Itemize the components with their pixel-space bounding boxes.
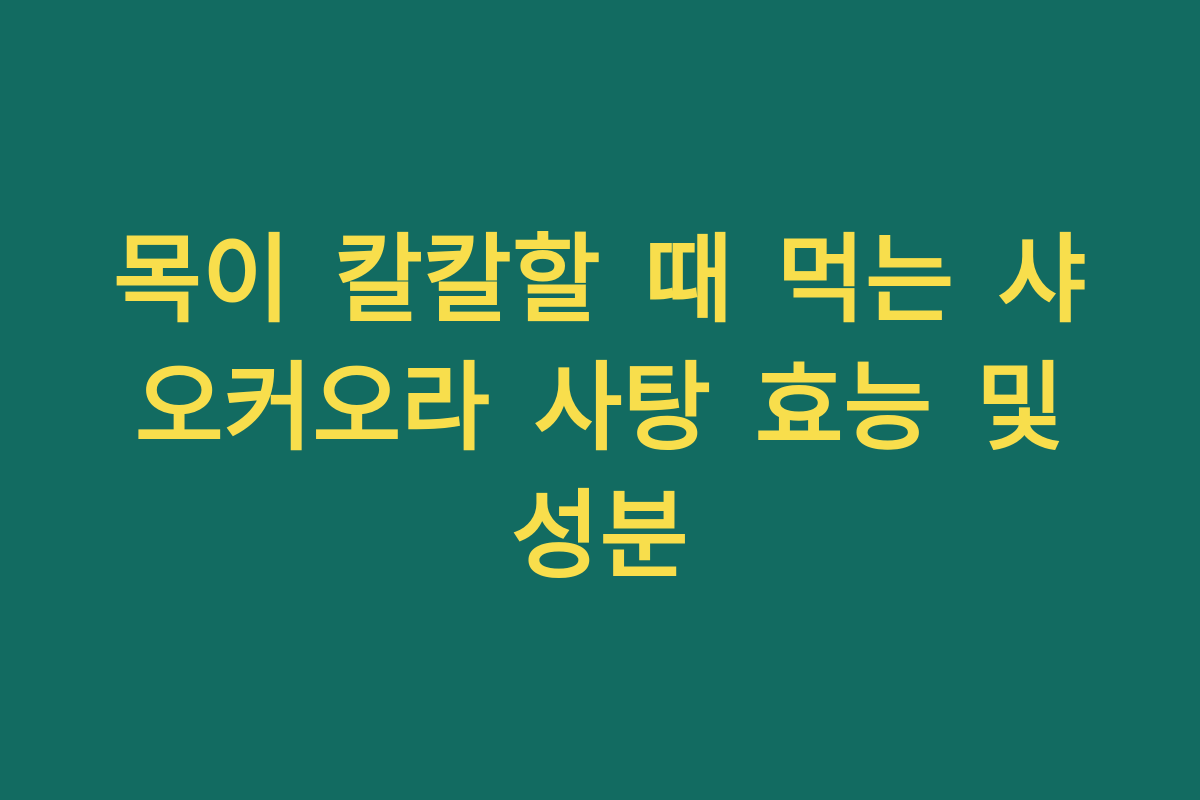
thumbnail-card: 목이 칼칼할 때 먹는 샤오커오라 사탕 효능 및 성분 [0,0,1200,800]
page-title: 목이 칼칼할 때 먹는 샤오커오라 사탕 효능 및 성분 [95,217,1105,600]
title-block: 목이 칼칼할 때 먹는 샤오커오라 사탕 효능 및 성분 [95,217,1105,600]
